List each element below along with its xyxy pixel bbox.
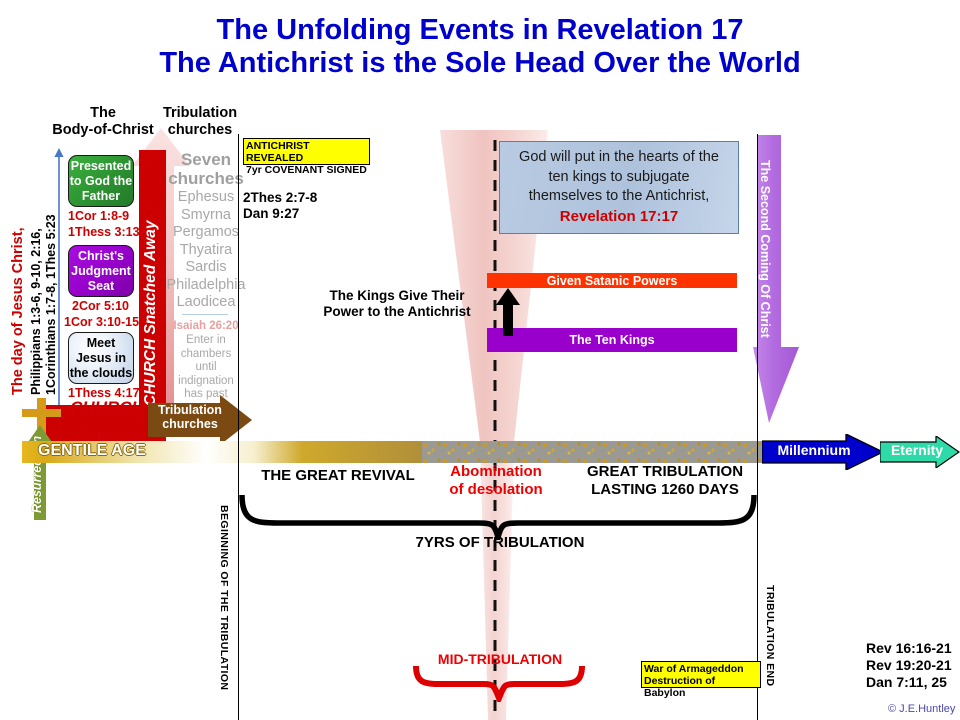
antichrist-revealed-callout[interactable]: ANTICHRIST REVEALED 7yr COVENANT SIGNED [243, 138, 370, 165]
church-age-line2: AGE [52, 417, 162, 436]
list-item: Laodicea [152, 294, 260, 312]
mid-tribulation-label: MID-TRIBULATION [410, 650, 590, 668]
philippians-ref: Philippians 1:3-6, 9-10, 2:16, [29, 228, 43, 395]
tribulation-end-line [757, 134, 758, 720]
ref-dan-9-27: Dan 9:27 [243, 206, 317, 222]
millennium-label: Millennium [768, 442, 860, 458]
ref-1cor-3-10-15: 1Cor 3:10-15 [64, 315, 139, 329]
ref-1thess-3-13: 1Thess 3:13 [68, 225, 140, 239]
title-line-2: The Antichrist is the Sole Head Over the… [0, 47, 960, 80]
box-line-1: Meet [87, 336, 115, 351]
box-line-1: Presented [71, 159, 131, 174]
copyright-notice: © J.E.Huntley [888, 703, 955, 715]
mid-tribulation-brace [412, 666, 588, 702]
final-ref-line2: Rev 19:20-21 [866, 657, 952, 674]
box-presented-to-god[interactable]: Presented to God the Father [68, 155, 134, 207]
info-line-2: ten kings to subjugate [500, 168, 738, 188]
info-line-1: God will put in the hearts of the [500, 148, 738, 168]
abomination-label: Abomination of desolation [428, 463, 564, 499]
antichrist-callout-line2: 7yr COVENANT SIGNED [246, 164, 367, 176]
ref-2thes: 2Thes 2:7-8 [243, 190, 317, 206]
armageddon-callout[interactable]: War of Armageddon Destruction of Babylon [641, 661, 761, 688]
list-item: Sardis [152, 259, 260, 277]
armageddon-line2: Destruction of Babylon [644, 675, 758, 699]
box-line-3: Father [82, 189, 120, 204]
box-line-2: Judgment [71, 264, 131, 279]
box-line-1: Christ's [78, 249, 124, 264]
box-line-3: the clouds [70, 366, 133, 381]
given-satanic-powers-label: Given Satanic Powers [487, 272, 737, 290]
box-line-2: to God the [70, 174, 133, 189]
ten-kings-label: The Ten Kings [487, 331, 737, 349]
trib-arrow-line1: Tribulation [150, 403, 230, 417]
timeline-axis-arrow [52, 148, 66, 413]
abomination-line1: Abomination [428, 463, 564, 481]
great-tribulation-label: GREAT TRIBULATION LASTING 1260 DAYS [570, 463, 760, 499]
info-reference: Revelation 17:17 [560, 208, 678, 225]
final-scripture-refs: Rev 16:16-21 Rev 19:20-21 Dan 7:11, 25 [866, 640, 952, 691]
second-coming-label: The Second Coming Of Christ [758, 160, 772, 338]
great-revival-label: THE GREAT REVIVAL [243, 467, 433, 485]
list-item: Pergamos [152, 224, 260, 242]
page-title: The Unfolding Events in Revelation 17 Th… [0, 14, 960, 80]
beginning-tribulation-line [238, 134, 239, 720]
armageddon-line1: War of Armageddon [644, 663, 758, 675]
revelation-17-17-info-box: God will put in the hearts of the ten ki… [499, 141, 739, 234]
day-of-jesus-christ-label: The day of Jesus Christ, [10, 227, 26, 395]
list-item: Thyatira [152, 242, 260, 260]
info-line-3: themselves to the Antichrist, [500, 187, 738, 207]
ref-2cor-5-10: 2Cor 5:10 [72, 299, 129, 313]
title-line-1: The Unfolding Events in Revelation 17 [0, 14, 960, 47]
box-meet-jesus-in-the-clouds[interactable]: Meet Jesus in the clouds [68, 332, 134, 384]
seven-churches-divider [182, 314, 228, 315]
ref-1cor-1-8-9: 1Cor 1:8-9 [68, 209, 129, 223]
list-item: Philadelphia [152, 277, 260, 295]
box-line-3: Seat [88, 279, 114, 294]
beginning-of-tribulation-label: BEGINNING OF THE TRIBULATION [218, 505, 230, 690]
final-ref-line3: Dan 7:11, 25 [866, 674, 952, 691]
kings-note-line2: Power to the Antichrist [322, 304, 472, 320]
trib-arrow-line2: churches [150, 417, 230, 431]
gentile-age-label: GENTILE AGE [38, 442, 146, 460]
kings-note-line1: The Kings Give Their [322, 288, 472, 304]
final-ref-line1: Rev 16:16-21 [866, 640, 952, 657]
gentile-age-dotted-bar [422, 441, 762, 463]
tribulation-end-label: TRIBULATION END [764, 585, 776, 686]
box-christs-judgment-seat[interactable]: Christ's Judgment Seat [68, 245, 134, 297]
antichrist-scripture-refs: 2Thes 2:7-8 Dan 9:27 [243, 190, 317, 222]
kings-power-up-arrow [495, 288, 521, 336]
box-line-2: Jesus in [76, 351, 126, 366]
antichrist-callout-line1: ANTICHRIST REVEALED [246, 140, 367, 164]
kings-give-power-note: The Kings Give Their Power to the Antich… [322, 288, 472, 320]
eternity-label: Eternity [884, 442, 950, 458]
church-age-label: CHURCH AGE [52, 398, 162, 436]
heading-trib-line1: Tribulation [145, 105, 255, 122]
mid-tribulation-dashed-line [492, 140, 498, 720]
tribulation-churches-arrow-label: Tribulation churches [150, 403, 230, 431]
seven-years-tribulation-label: 7YRS OF TRIBULATION [370, 534, 630, 552]
great-trib-line1: GREAT TRIBULATION [570, 463, 760, 481]
church-age-line1: CHURCH [52, 398, 162, 417]
